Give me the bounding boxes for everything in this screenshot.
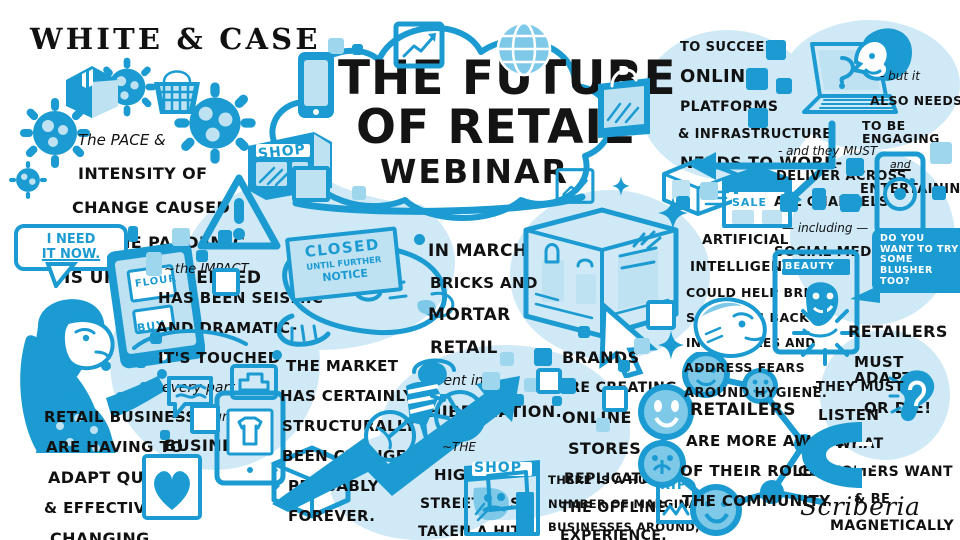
decorative-square	[618, 360, 630, 372]
decorative-square	[634, 338, 650, 354]
decorative-square	[932, 186, 946, 200]
decorative-square	[352, 186, 366, 200]
decorative-square	[700, 182, 718, 200]
shopping-bag-icon	[592, 62, 656, 140]
decorative-square	[128, 226, 138, 242]
decorative-square	[596, 418, 610, 432]
speech-bubble-blusher: DO YOU WANT TO TRY SOME BLUSHER TOO?	[872, 228, 960, 293]
sale-tag-icon	[482, 466, 534, 514]
decorative-square	[146, 252, 162, 276]
decorative-square	[676, 196, 690, 210]
bubble-line: I NEED	[25, 233, 117, 248]
heart-icon	[140, 452, 204, 522]
note-line: RETAILERS	[848, 322, 948, 341]
decorative-square	[552, 396, 562, 406]
sketchnote-canvas: WHITE & CASE THE FUTURE OF RETAIL WEBINA…	[0, 0, 960, 540]
decorative-square	[536, 368, 562, 394]
smartphone-icon	[296, 50, 336, 120]
bubble-line: SOME BLUSHER	[880, 255, 960, 276]
ibeauty-label: iBEAUTY	[780, 261, 835, 272]
decorative-square	[930, 142, 952, 164]
bubble-line: TOO?	[880, 277, 960, 288]
note-line: ALSO needs	[870, 93, 960, 108]
globe-icon	[495, 20, 553, 78]
store-sign-label: SALE	[732, 196, 767, 209]
decorative-square	[160, 430, 170, 440]
decorative-square	[482, 372, 500, 390]
note-line: ARTIFICIAL	[702, 232, 789, 248]
bullet-dot	[272, 350, 282, 360]
note-line: - and they MUST	[778, 144, 877, 158]
decorative-square	[196, 250, 208, 262]
decorative-square	[190, 404, 220, 434]
decorative-square	[534, 348, 552, 366]
sparkle-icon	[612, 176, 630, 196]
decorative-square	[292, 166, 330, 202]
decorative-square	[500, 352, 514, 366]
network-nodes-icon	[780, 184, 870, 220]
note-line: MORTAR	[428, 305, 511, 325]
note-line: INTENSITY of	[78, 164, 207, 183]
note-line: IN MARCH	[428, 241, 528, 261]
magnet-icon	[796, 418, 872, 492]
virus-icon	[8, 160, 48, 200]
parcel-box-icon	[62, 62, 122, 120]
bubble-line: IT NOW.	[42, 247, 100, 262]
closed-sign: CLOSED UNTIL FURTHER NOTICE	[285, 226, 403, 302]
dots-decor	[96, 352, 176, 412]
title-line-3: WEBINAR	[380, 156, 569, 188]
decorative-square	[512, 394, 524, 406]
head-profile-icon	[690, 290, 774, 366]
note-line: around HYGIENE.	[684, 386, 827, 401]
decorative-square	[212, 268, 240, 296]
decorative-square	[172, 228, 190, 246]
artist-signature: Scriberia	[800, 492, 920, 521]
shopping-basket-icon	[148, 62, 206, 120]
note-line: -They MUST	[812, 380, 904, 395]
note-line: The PACE &	[78, 131, 166, 149]
chart-screen-icon	[392, 20, 446, 70]
decorative-square	[578, 326, 590, 338]
chart-screen-icon	[554, 166, 596, 206]
decorative-square	[352, 44, 363, 55]
decorative-square	[218, 230, 232, 244]
smartphone-icon	[872, 150, 928, 238]
decorative-square	[560, 378, 576, 394]
decorative-square	[602, 386, 628, 412]
decorative-square	[846, 158, 864, 176]
decorative-square	[646, 300, 676, 330]
note-line: CHANGING	[50, 529, 150, 540]
bullet-dot	[414, 234, 425, 245]
note-line: - but it	[880, 69, 920, 83]
